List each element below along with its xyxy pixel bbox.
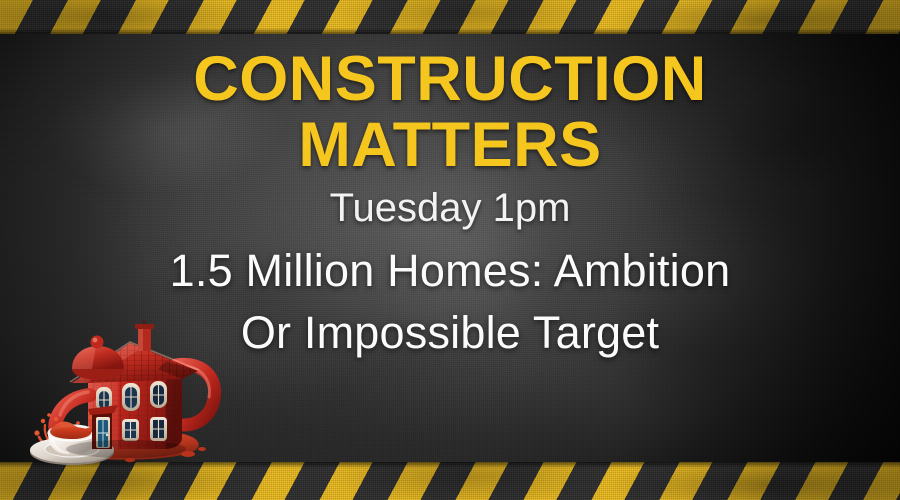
hazard-stripe-bottom	[0, 462, 900, 500]
window-upper-right	[150, 381, 167, 408]
hazard-stripe-top	[0, 0, 900, 34]
window-lower-right	[150, 417, 167, 441]
teapot-house-illustration	[26, 321, 226, 466]
show-title: CONSTRUCTION MATTERS	[0, 46, 900, 178]
teapot-lid	[72, 336, 124, 381]
episode-headline-line1: 1.5 Million Homes: Ambition	[170, 245, 731, 296]
promo-banner: CONSTRUCTION MATTERS Tuesday 1pm 1.5 Mil…	[0, 0, 900, 500]
window-lower-middle	[122, 419, 139, 441]
airtime-label: Tuesday 1pm	[0, 186, 900, 230]
show-title-line2: MATTERS	[0, 112, 900, 178]
show-title-line1: CONSTRUCTION	[193, 44, 706, 114]
window-upper-middle	[122, 383, 140, 411]
